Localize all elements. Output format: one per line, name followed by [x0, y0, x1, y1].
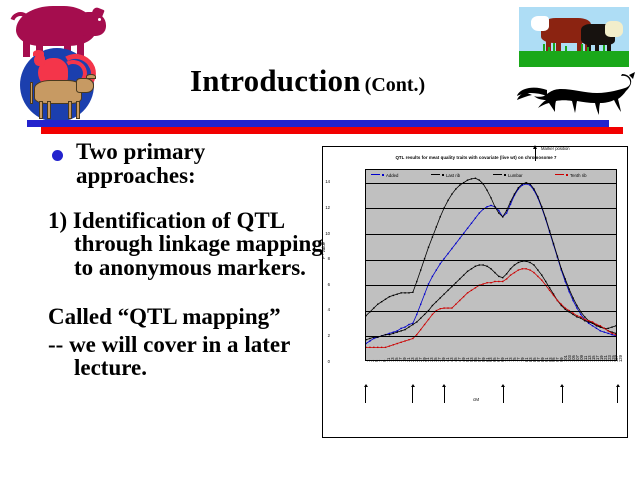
chart-data-point	[432, 314, 433, 315]
chart-legend: AddedLast ribLumbarTenth rib	[365, 171, 617, 185]
chart-gridline	[366, 260, 616, 261]
chart-y-tick-label: 6	[314, 282, 330, 287]
chart-data-point	[420, 318, 421, 319]
chart-data-point	[432, 276, 433, 277]
chart-data-point	[600, 330, 601, 331]
chart-data-point	[584, 320, 585, 321]
chart-data-point	[440, 216, 441, 217]
note-line-1: -- we will cover in a	[48, 332, 239, 357]
chart-legend-swatch	[493, 174, 502, 175]
chart-legend-label: Tenth rib	[570, 173, 586, 178]
chart-x-tick-label: 129	[618, 355, 623, 362]
grass-blade-icon	[603, 45, 605, 55]
chart-series-lines	[366, 170, 616, 360]
chart-legend-marker	[442, 174, 444, 176]
marker-position-tick	[562, 387, 563, 403]
chart-data-point	[486, 266, 487, 267]
chart-data-point	[475, 217, 476, 218]
chart-data-point	[424, 324, 425, 325]
marker-arrowhead-icon	[533, 145, 537, 149]
numbered-item-1: 1) Identification of QTL through linkage…	[48, 209, 323, 279]
chart-data-point	[522, 261, 523, 262]
chart-data-point	[514, 264, 515, 265]
chart-data-point	[467, 228, 468, 229]
chart-data-point	[541, 280, 542, 281]
chart-data-point	[451, 193, 452, 194]
chart-data-point	[381, 301, 382, 302]
chart-data-point	[463, 296, 464, 297]
chart-data-point	[412, 338, 413, 339]
chart-data-point	[366, 347, 367, 348]
chart-data-point	[494, 281, 495, 282]
chart-data-point	[366, 343, 367, 344]
chart-data-point	[490, 197, 491, 198]
rooster-head-icon	[34, 54, 45, 66]
chart-data-point	[510, 268, 511, 269]
chart-data-point	[553, 295, 554, 296]
marker-position-arrowhead	[501, 384, 505, 387]
bullet-dot-icon	[52, 150, 63, 161]
chart-data-point	[440, 263, 441, 264]
chart-data-point	[400, 328, 401, 329]
chart-data-point	[443, 293, 444, 294]
chart-data-point	[397, 343, 398, 344]
chart-legend-marker	[382, 174, 384, 176]
chart-data-point	[385, 334, 386, 335]
chart-legend-label: Added	[386, 173, 398, 178]
chart-gridline	[366, 285, 616, 286]
chart-data-point	[607, 328, 608, 329]
chart-legend-swatch	[431, 174, 440, 175]
chart-legend-swatch	[371, 174, 380, 175]
chart-data-point	[455, 304, 456, 305]
chart-data-point	[373, 338, 374, 339]
chart-data-point	[506, 273, 507, 274]
chart-data-point	[486, 206, 487, 207]
chart-y-tick-label: 14	[314, 179, 330, 184]
chart-data-point	[404, 329, 405, 330]
chart-data-point	[436, 301, 437, 302]
chart-data-point	[537, 276, 538, 277]
chart-line-last-rib	[366, 178, 616, 328]
chart-data-point	[459, 238, 460, 239]
chart-data-point	[588, 321, 589, 322]
slide-canvas: Introduction (Cont.) Two p	[0, 0, 640, 480]
chart-data-point	[494, 206, 495, 207]
chart-data-point	[400, 292, 401, 293]
chart-data-point	[607, 330, 608, 331]
grass-blade-icon	[581, 44, 583, 55]
marker-position-label: Marker position	[541, 146, 570, 151]
chart-data-point	[545, 217, 546, 218]
chart-gridline	[366, 234, 616, 235]
chart-data-point	[506, 210, 507, 211]
chart-data-point	[549, 287, 550, 288]
chart-data-point	[416, 314, 417, 315]
chart-legend-item: Lumbar	[493, 173, 523, 178]
chart-data-point	[389, 296, 390, 297]
grass-blade-icon	[548, 47, 550, 55]
chart-data-point	[479, 264, 480, 265]
chart-gridline	[366, 208, 616, 209]
grass-blade-icon	[587, 47, 589, 55]
chart-data-point	[611, 333, 612, 334]
chart-data-point	[518, 269, 519, 270]
page-title: Introduction (Cont.)	[190, 63, 520, 105]
chart-data-point	[393, 344, 394, 345]
chart-data-point	[584, 319, 585, 320]
chart-data-point	[549, 230, 550, 231]
chart-data-point	[565, 307, 566, 308]
chart-legend-label: Last rib	[446, 173, 460, 178]
chart-title: QTL results for meat quality traits with…	[323, 155, 629, 160]
chart-data-point	[389, 334, 390, 335]
chart-data-point	[366, 315, 367, 316]
chart-data-point	[565, 278, 566, 279]
chart-data-point	[615, 325, 616, 326]
chart-data-point	[377, 304, 378, 305]
chart-data-point	[404, 326, 405, 327]
chart-data-point	[490, 282, 491, 283]
chart-data-point	[432, 236, 433, 237]
chart-data-point	[471, 290, 472, 291]
divider-bar-blue	[27, 120, 609, 127]
chart-data-point	[471, 268, 472, 269]
chart-data-point	[490, 205, 491, 206]
chart-data-point	[494, 272, 495, 273]
chart-data-point	[604, 328, 605, 329]
chart-data-point	[369, 338, 370, 339]
grass-strip	[519, 51, 629, 67]
chart-data-point	[424, 293, 425, 294]
marker-position-annotation: Marker position	[541, 147, 575, 152]
chart-legend-marker	[566, 174, 568, 176]
chart-data-point	[596, 328, 597, 329]
chart-data-point	[596, 324, 597, 325]
chart-data-point	[568, 288, 569, 289]
chart-y-tick-label: 10	[314, 231, 330, 236]
chart-data-point	[580, 314, 581, 315]
chart-data-point	[416, 321, 417, 322]
chart-data-point	[506, 212, 507, 213]
chart-data-point	[537, 269, 538, 270]
chart-data-point	[369, 347, 370, 348]
chart-data-point	[541, 206, 542, 207]
cow-leg-icon	[76, 101, 80, 119]
chart-data-point	[572, 300, 573, 301]
chart-data-point	[576, 307, 577, 308]
chart-data-point	[576, 316, 577, 317]
chart-gridline	[366, 336, 616, 337]
page-title-cont: (Cont.)	[365, 74, 426, 96]
chart-data-point	[436, 269, 437, 270]
chart-gridline	[366, 311, 616, 312]
chart-data-point	[529, 262, 530, 263]
cow-leg-icon	[68, 101, 72, 119]
chart-data-point	[463, 274, 464, 275]
chart-y-tick-label: 2	[314, 333, 330, 338]
marker-position-tick	[365, 387, 366, 403]
slide-body: Two primary approaches: 1) Identificatio…	[48, 140, 323, 380]
chart-data-point	[373, 307, 374, 308]
chart-data-point	[471, 223, 472, 224]
chart-data-point	[545, 281, 546, 282]
chart-data-point	[455, 282, 456, 283]
marker-position-arrowhead	[364, 384, 368, 387]
chart-data-point	[436, 226, 437, 227]
chart-data-point	[447, 253, 448, 254]
chart-data-point	[467, 271, 468, 272]
marker-position-tick	[444, 387, 445, 403]
chart-data-point	[389, 333, 390, 334]
cow-leg-icon	[39, 101, 43, 119]
grass-blade-icon	[553, 43, 555, 55]
chart-data-point	[490, 268, 491, 269]
chart-data-point	[498, 212, 499, 213]
chart-data-point	[440, 308, 441, 309]
chart-data-point	[424, 314, 425, 315]
chart-data-point	[604, 331, 605, 332]
chart-data-point	[611, 326, 612, 327]
chart-data-point	[561, 268, 562, 269]
chart-data-point	[529, 269, 530, 270]
cow-leg-icon	[47, 101, 51, 119]
chart-data-point	[514, 272, 515, 273]
chart-data-point	[518, 187, 519, 188]
cow-head-icon	[76, 78, 94, 93]
chart-data-point	[557, 300, 558, 301]
chart-data-point	[408, 326, 409, 327]
pig-eye-icon	[98, 18, 101, 21]
numbered-item-1-text: Identification of QTL through linkage ma…	[73, 208, 323, 280]
galloping-horse-icon	[517, 70, 635, 118]
chart-data-point	[400, 342, 401, 343]
chart-data-point	[397, 330, 398, 331]
chart-data-point	[486, 282, 487, 283]
chart-data-point	[572, 312, 573, 313]
chart-data-point	[498, 281, 499, 282]
chart-y-tick-label: 4	[314, 307, 330, 312]
marker-arrow-icon	[535, 147, 536, 161]
note-block: -- we will cover in a later lecture.	[48, 333, 323, 380]
marker-position-arrowhead	[560, 384, 564, 387]
chart-data-point	[420, 304, 421, 305]
chart-data-point	[580, 316, 581, 317]
chart-legend-marker	[504, 174, 506, 176]
chart-data-point	[510, 201, 511, 202]
chart-data-point	[502, 277, 503, 278]
chart-data-point	[455, 243, 456, 244]
chart-data-point	[412, 292, 413, 293]
chart-data-point	[553, 243, 554, 244]
chart-data-point	[443, 307, 444, 308]
chart-legend-item: Tenth rib	[555, 173, 586, 178]
chart-data-point	[537, 196, 538, 197]
chart-data-point	[447, 200, 448, 201]
chart-data-point	[475, 266, 476, 267]
chart-data-point	[432, 305, 433, 306]
chart-legend-swatch	[555, 174, 564, 175]
chart-data-point	[408, 339, 409, 340]
chart-data-point	[373, 347, 374, 348]
chart-data-point	[615, 333, 616, 334]
chart-legend-item: Added	[371, 173, 398, 178]
chart-data-point	[533, 272, 534, 273]
chart-data-point	[420, 329, 421, 330]
chart-data-point	[447, 307, 448, 308]
chart-data-point	[533, 264, 534, 265]
chart-data-point	[389, 345, 390, 346]
chart-data-point	[459, 278, 460, 279]
chart-data-point	[366, 339, 367, 340]
chart-data-point	[557, 255, 558, 256]
marker-position-arrowhead	[616, 384, 620, 387]
chart-data-point	[447, 290, 448, 291]
chart-data-point	[533, 188, 534, 189]
chart-data-point	[428, 247, 429, 248]
cow-tail-icon	[30, 82, 33, 104]
chart-data-point	[393, 331, 394, 332]
chart-data-point	[607, 333, 608, 334]
chart-data-point	[455, 188, 456, 189]
chart-data-point	[615, 334, 616, 335]
chart-data-point	[541, 274, 542, 275]
chart-data-point	[592, 325, 593, 326]
chart-data-point	[600, 325, 601, 326]
chart-data-point	[393, 295, 394, 296]
chart-data-point	[588, 320, 589, 321]
chart-data-point	[369, 340, 370, 341]
chart-data-point	[400, 330, 401, 331]
chart-data-point	[416, 334, 417, 335]
chart-data-point	[592, 321, 593, 322]
chart-data-point	[451, 307, 452, 308]
chart-y-tick-label: 8	[314, 256, 330, 261]
chart-data-point	[385, 299, 386, 300]
grass-blade-icon	[543, 44, 545, 55]
divider-bar-red	[41, 127, 623, 134]
chart-data-point	[393, 333, 394, 334]
chart-legend-item: Last rib	[431, 173, 460, 178]
called-line: Called “QTL mapping”	[48, 305, 323, 328]
chart-x-axis-label: cM	[323, 397, 629, 402]
chart-data-point	[408, 324, 409, 325]
chart-data-point	[479, 212, 480, 213]
chart-x-axis-ticks: 1357911131517192123252729313335373941434…	[365, 362, 617, 388]
chart-data-point	[397, 331, 398, 332]
chart-data-point	[584, 316, 585, 317]
qtl-chart: QTL results for meat quality traits with…	[322, 146, 628, 438]
black-cow-head-icon	[605, 21, 623, 37]
chart-data-point	[510, 274, 511, 275]
chart-data-point	[404, 292, 405, 293]
marker-position-tick	[617, 387, 618, 403]
bullet-item: Two primary approaches:	[48, 140, 323, 188]
chart-data-point	[549, 290, 550, 291]
chart-data-point	[518, 262, 519, 263]
chart-data-point	[467, 292, 468, 293]
chart-data-point	[412, 324, 413, 325]
chart-data-point	[404, 340, 405, 341]
chart-data-point	[498, 276, 499, 277]
marker-position-arrowhead	[411, 384, 415, 387]
numbered-item-1-number: 1)	[48, 208, 67, 233]
red-cow-head-icon	[531, 16, 549, 31]
chart-data-point	[486, 190, 487, 191]
chart-data-point	[506, 278, 507, 279]
chart-data-point	[576, 315, 577, 316]
chart-data-point	[572, 297, 573, 298]
chart-data-point	[576, 305, 577, 306]
grass-blade-icon	[565, 46, 567, 55]
chart-data-point	[498, 210, 499, 211]
chart-plot-area	[365, 169, 617, 361]
chart-data-point	[502, 281, 503, 282]
chart-data-point	[502, 216, 503, 217]
chart-data-point	[416, 281, 417, 282]
marker-position-arrowhead	[442, 384, 446, 387]
chart-y-tick-label: 0	[314, 359, 330, 364]
chart-y-tick-label: 12	[314, 205, 330, 210]
chart-data-point	[611, 334, 612, 335]
livestock-species-logo	[8, 4, 118, 122]
chart-data-point	[588, 323, 589, 324]
chart-data-point	[525, 268, 526, 269]
chart-data-point	[451, 248, 452, 249]
chart-data-point	[385, 347, 386, 348]
chart-legend-label: Lumbar	[508, 173, 523, 178]
chart-data-point	[561, 304, 562, 305]
chart-data-point	[514, 193, 515, 194]
pig-leg-icon	[23, 40, 30, 57]
chart-data-point	[440, 297, 441, 298]
chart-data-point	[408, 292, 409, 293]
chart-data-point	[459, 300, 460, 301]
cattle-pasture-photo	[519, 7, 629, 67]
chart-data-point	[420, 269, 421, 270]
chart-data-point	[482, 264, 483, 265]
chart-data-point	[377, 347, 378, 348]
chart-data-point	[475, 287, 476, 288]
chart-data-point	[428, 319, 429, 320]
marker-position-tick	[412, 387, 413, 403]
chart-data-point	[397, 293, 398, 294]
chart-data-point	[381, 347, 382, 348]
chart-data-point	[525, 261, 526, 262]
chart-data-point	[522, 268, 523, 269]
page-title-main: Introduction	[190, 63, 361, 98]
bullet-label: Two primary approaches:	[76, 139, 205, 188]
marker-position-tick	[503, 387, 504, 403]
